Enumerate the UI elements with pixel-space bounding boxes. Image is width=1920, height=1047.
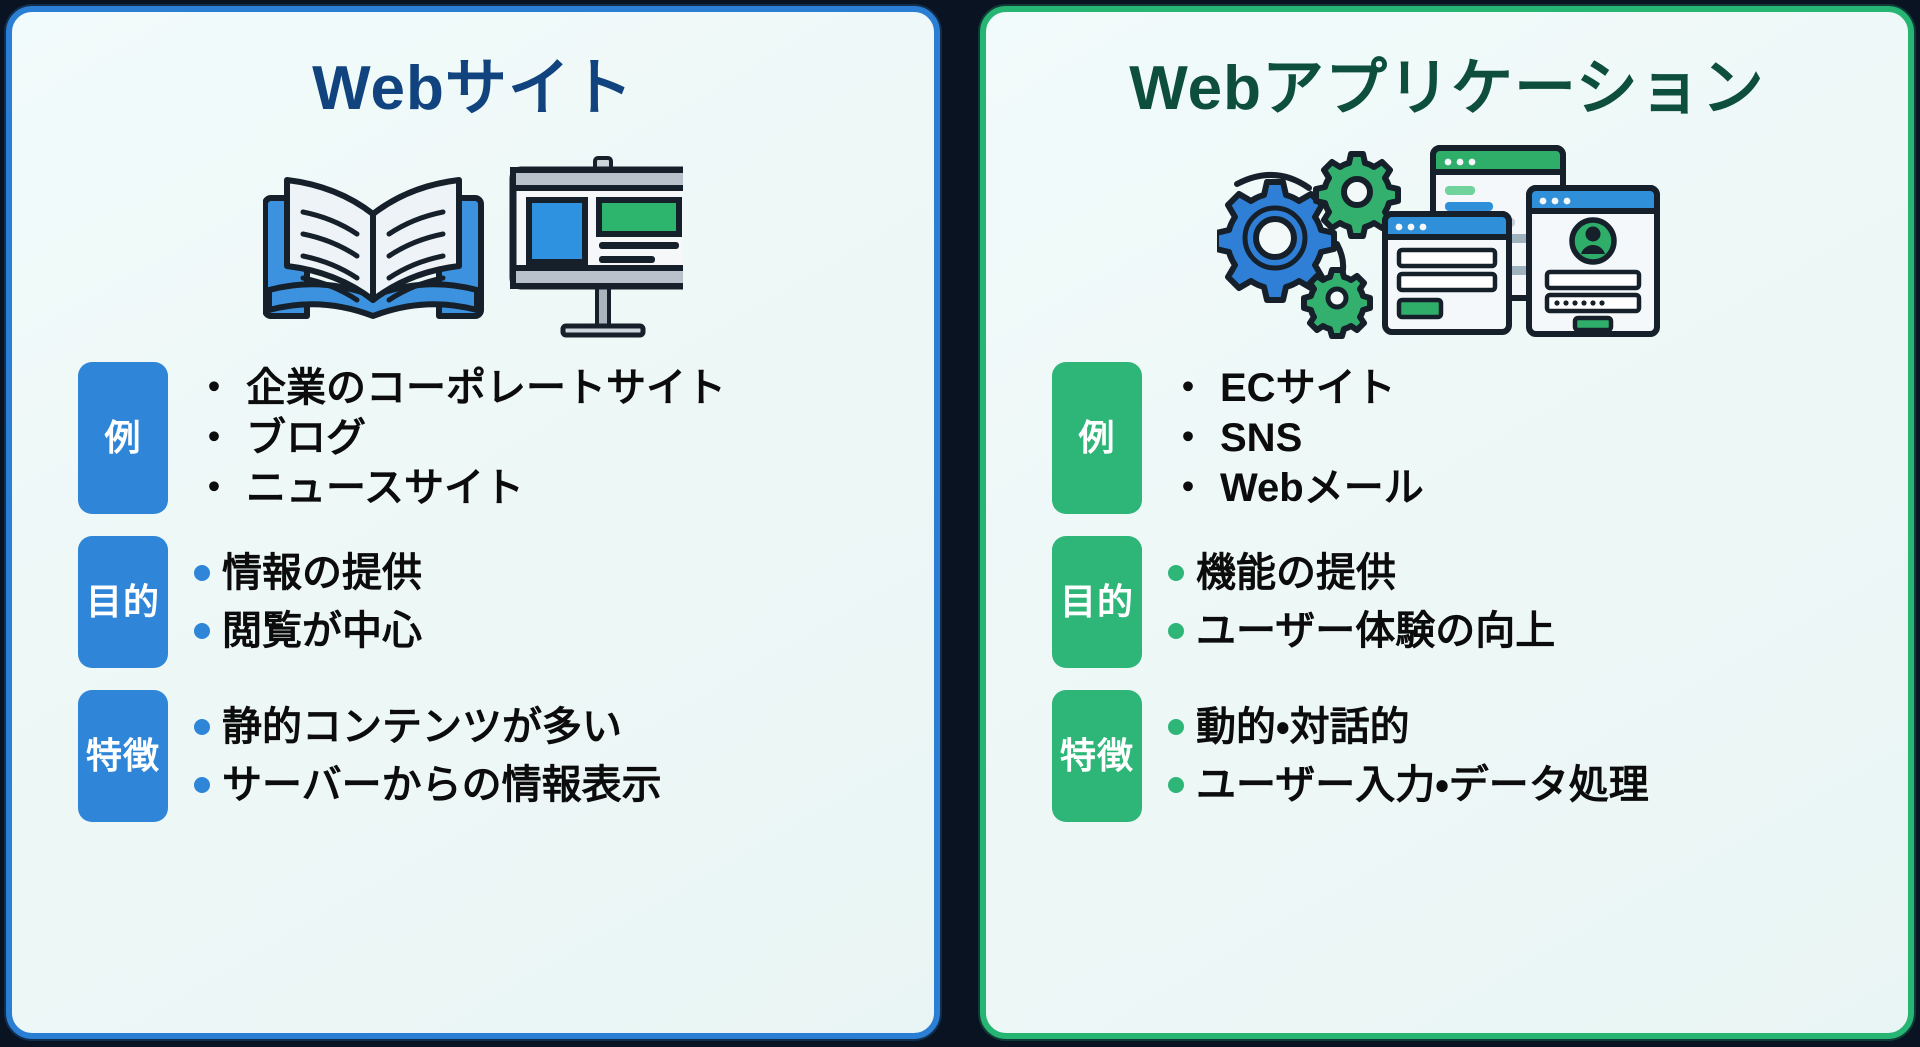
bullet-list: 静的コンテンツが多い サーバーからの情報表示	[194, 704, 662, 808]
list-item: ユーザー体験の向上	[1168, 608, 1555, 654]
bullet-dot-icon	[194, 565, 210, 581]
list-item: ・ Webメール	[1168, 465, 1424, 511]
list-item: ・ SNS	[1168, 415, 1424, 461]
bullet-dot-icon	[194, 719, 210, 735]
row-example: 例 ・ 企業のコーポレートサイト ・ ブログ ・ ニュースサイト	[78, 362, 904, 514]
bullet-dot-icon	[194, 777, 210, 793]
panel-website-rows: 例 ・ 企業のコーポレートサイト ・ ブログ ・ ニュースサイト	[12, 352, 934, 1033]
list-item-text: 動的・対話的	[1196, 704, 1410, 750]
row-label-chip: 特徴	[78, 690, 168, 822]
panel-webapp-title: Webアプリケーション	[986, 12, 1908, 130]
list-item-text: ECサイト	[1220, 365, 1396, 411]
list-item: ・ ECサイト	[1168, 365, 1424, 411]
gear-small-icon	[1304, 270, 1370, 336]
gears-icon	[1217, 154, 1398, 336]
list-item: 情報の提供	[194, 550, 422, 596]
row-label-chip: 特徴	[1052, 690, 1142, 822]
bullet-list: 動的・対話的 ユーザー入力・データ処理	[1168, 704, 1649, 808]
user-profile-card-icon	[1529, 188, 1657, 334]
row-label-chip: 例	[78, 362, 168, 514]
list-item-text: ユーザー体験の向上	[1196, 608, 1555, 654]
bullet-char-icon: ・	[194, 418, 234, 458]
list-item: ・ ブログ	[194, 415, 726, 461]
list-item-text: Webメール	[1220, 465, 1424, 511]
list-item: ・ 企業のコーポレートサイト	[194, 365, 726, 411]
bullet-char-icon: ・	[194, 368, 234, 408]
list-item-text: SNS	[1220, 415, 1302, 461]
bullet-char-icon: ・	[194, 468, 234, 508]
open-book-icon	[265, 180, 481, 316]
row-feature: 特徴 静的コンテンツが多い サーバーからの情報表示	[78, 690, 904, 822]
bullet-char-icon: ・	[1168, 418, 1208, 458]
list-item-text: ニュースサイト	[246, 465, 524, 511]
list-item: 動的・対話的	[1168, 704, 1649, 750]
bullet-dot-icon	[1168, 719, 1184, 735]
list-item-text: サーバーからの情報表示	[222, 762, 662, 808]
list-item-text: 企業のコーポレートサイト	[246, 365, 726, 411]
bullet-list: ・ 企業のコーポレートサイト ・ ブログ ・ ニュースサイト	[194, 365, 726, 511]
row-purpose: 目的 機能の提供 ユーザー体験の向上	[1052, 536, 1878, 668]
list-item: 機能の提供	[1168, 550, 1555, 596]
row-purpose: 目的 情報の提供 閲覧が中心	[78, 536, 904, 668]
panel-webapp-illustration	[986, 136, 1908, 344]
comparison-slide: Webサイト	[0, 0, 1920, 1047]
bullet-dot-icon	[1168, 623, 1184, 639]
panel-website: Webサイト	[6, 6, 940, 1039]
row-feature: 特徴 動的・対話的 ユーザー入力・データ処理	[1052, 690, 1878, 822]
list-item: 閲覧が中心	[194, 608, 422, 654]
list-item-text: ブログ	[246, 415, 366, 461]
list-item-text: 静的コンテンツが多い	[222, 704, 622, 750]
list-item: 静的コンテンツが多い	[194, 704, 662, 750]
list-item: サーバーからの情報表示	[194, 762, 662, 808]
list-item-text: ユーザー入力・データ処理	[1196, 762, 1649, 808]
row-label-chip: 目的	[1052, 536, 1142, 668]
bullet-char-icon: ・	[1168, 368, 1208, 408]
row-example: 例 ・ ECサイト ・ SNS ・ Webメール	[1052, 362, 1878, 514]
bullet-list: 情報の提供 閲覧が中心	[194, 550, 422, 654]
bullet-char-icon: ・	[1168, 468, 1208, 508]
list-item-text: 機能の提供	[1196, 550, 1396, 596]
panel-webapp-rows: 例 ・ ECサイト ・ SNS ・ Webメール	[986, 352, 1908, 1033]
app-window-form-icon	[1385, 214, 1509, 332]
bullet-list: ・ ECサイト ・ SNS ・ Webメール	[1168, 365, 1424, 511]
bullet-dot-icon	[194, 623, 210, 639]
bullet-dot-icon	[1168, 777, 1184, 793]
billboard-sign-icon	[513, 158, 683, 335]
list-item: ユーザー入力・データ処理	[1168, 762, 1649, 808]
bullet-dot-icon	[1168, 565, 1184, 581]
bullet-list: 機能の提供 ユーザー体験の向上	[1168, 550, 1555, 654]
panel-website-illustration	[12, 136, 934, 344]
panel-website-title: Webサイト	[12, 12, 934, 130]
list-item-text: 閲覧が中心	[222, 608, 422, 654]
row-label-chip: 例	[1052, 362, 1142, 514]
list-item: ・ ニュースサイト	[194, 465, 726, 511]
row-label-chip: 目的	[78, 536, 168, 668]
panel-webapp: Webアプリケーション	[980, 6, 1914, 1039]
list-item-text: 情報の提供	[222, 550, 422, 596]
